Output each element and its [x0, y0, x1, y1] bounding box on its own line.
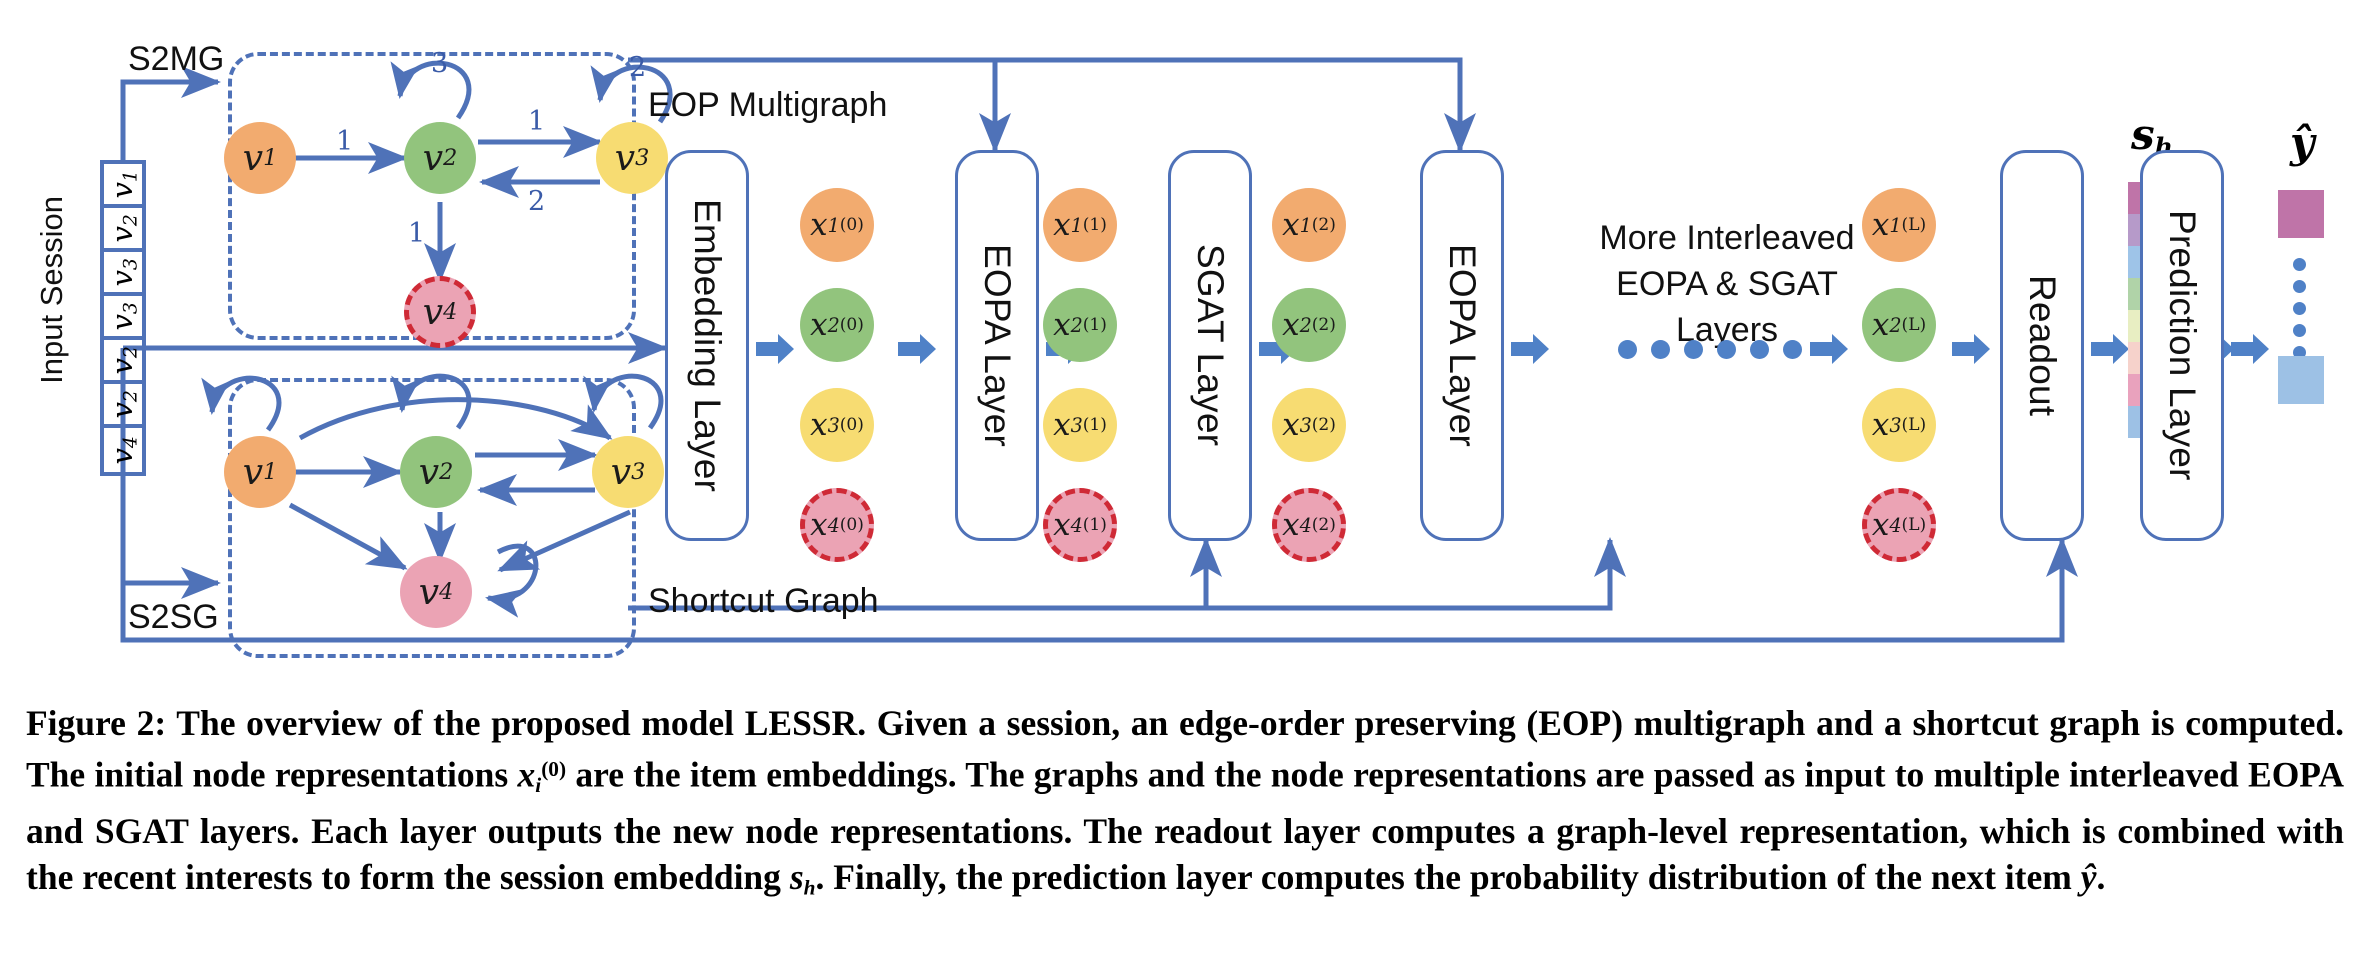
layer-label-embedding: Embedding Layer [686, 199, 728, 492]
layer-box-readout[interactable]: Readout [2000, 150, 2084, 541]
flow-arrow-icon [1511, 332, 1551, 366]
figure-canvas: Input Session v1v2v3v3v2v2v4 S2MG S2SG E… [0, 0, 2366, 972]
shortcut-graph-caption: Shortcut Graph [648, 582, 879, 621]
representation-node[interactable]: x4(L) [1862, 488, 1936, 562]
layer-label-readout: Readout [2021, 275, 2063, 416]
s2mg-label: S2MG [128, 40, 224, 79]
layer-box-embedding[interactable]: Embedding Layer [665, 150, 749, 541]
input-session-column[interactable]: v1v2v3v3v2v2v4 [100, 160, 146, 476]
layer-label-sgat: SGAT Layer [1189, 244, 1231, 446]
representation-node[interactable]: x1(2) [1272, 188, 1346, 262]
flow-arrow-icon [1810, 332, 1850, 366]
representation-node[interactable]: x3(0) [800, 388, 874, 462]
shortcut-node-v2[interactable]: v2 [400, 436, 472, 508]
edge-weight: 1 [528, 106, 545, 137]
representation-node[interactable]: x3(1) [1043, 388, 1117, 462]
edge-weight: 2 [629, 52, 646, 83]
representation-node[interactable]: x2(L) [1862, 288, 1936, 362]
flow-arrow-icon [898, 332, 938, 366]
session-item[interactable]: v1 [104, 164, 142, 208]
graph-node-v1[interactable]: v1 [224, 122, 296, 194]
graph-node-v2[interactable]: v2 [404, 122, 476, 194]
representation-node[interactable]: x1(1) [1043, 188, 1117, 262]
edge-weight: 3 [431, 48, 448, 79]
ellipsis-dots [1618, 340, 1802, 359]
layer-label-eopa-1: EOPA Layer [976, 244, 1018, 447]
session-item[interactable]: v4 [104, 428, 142, 472]
layer-label-prediction: Prediction Layer [2161, 210, 2203, 481]
edge-weight: 2 [528, 186, 545, 217]
s2sg-label: S2SG [128, 598, 219, 637]
input-session-label: Input Session [34, 196, 70, 384]
representation-node[interactable]: x2(0) [800, 288, 874, 362]
representation-node[interactable]: x4(1) [1043, 488, 1117, 562]
representation-node[interactable]: x3(L) [1862, 388, 1936, 462]
layer-box-prediction[interactable]: Prediction Layer [2140, 150, 2224, 541]
session-item[interactable]: v2 [104, 208, 142, 252]
edge-weight: 1 [408, 218, 425, 249]
session-item[interactable]: v2 [104, 384, 142, 428]
representation-node[interactable]: x4(2) [1272, 488, 1346, 562]
flow-arrow-icon [1952, 332, 1992, 366]
graph-node-v4[interactable]: v4 [404, 276, 476, 348]
graph-node-v3[interactable]: v3 [596, 122, 668, 194]
representation-node[interactable]: x1(0) [800, 188, 874, 262]
representation-node[interactable]: x1(L) [1862, 188, 1936, 262]
prediction-bottom-cell [2278, 356, 2324, 404]
shortcut-node-v1[interactable]: v1 [224, 436, 296, 508]
representation-node[interactable]: x3(2) [1272, 388, 1346, 462]
edge-weight: 1 [336, 126, 353, 157]
prediction-ellipsis-dots [2293, 258, 2306, 359]
session-item[interactable]: v3 [104, 252, 142, 296]
session-item[interactable]: v2 [104, 340, 142, 384]
layer-label-eopa-2: EOPA Layer [1441, 244, 1483, 447]
layer-box-eopa-2[interactable]: EOPA Layer [1420, 150, 1504, 541]
representation-node[interactable]: x4(0) [800, 488, 874, 562]
shortcut-node-v4[interactable]: v4 [400, 556, 472, 628]
eop-multigraph-caption: EOP Multigraph [648, 86, 887, 125]
layer-box-eopa-1[interactable]: EOPA Layer [955, 150, 1039, 541]
session-item[interactable]: v3 [104, 296, 142, 340]
shortcut-node-v3[interactable]: v3 [592, 436, 664, 508]
layer-box-sgat[interactable]: SGAT Layer [1168, 150, 1252, 541]
representation-node[interactable]: x2(2) [1272, 288, 1346, 362]
flow-arrow-icon [756, 332, 796, 366]
prediction-symbol: ŷ [2290, 118, 2314, 167]
figure-caption: Figure 2: The overview of the proposed m… [26, 700, 2344, 910]
representation-node[interactable]: x2(1) [1043, 288, 1117, 362]
flow-arrow-icon [2091, 332, 2131, 366]
flow-arrow-icon [2231, 332, 2271, 366]
prediction-top-cell [2278, 190, 2324, 238]
